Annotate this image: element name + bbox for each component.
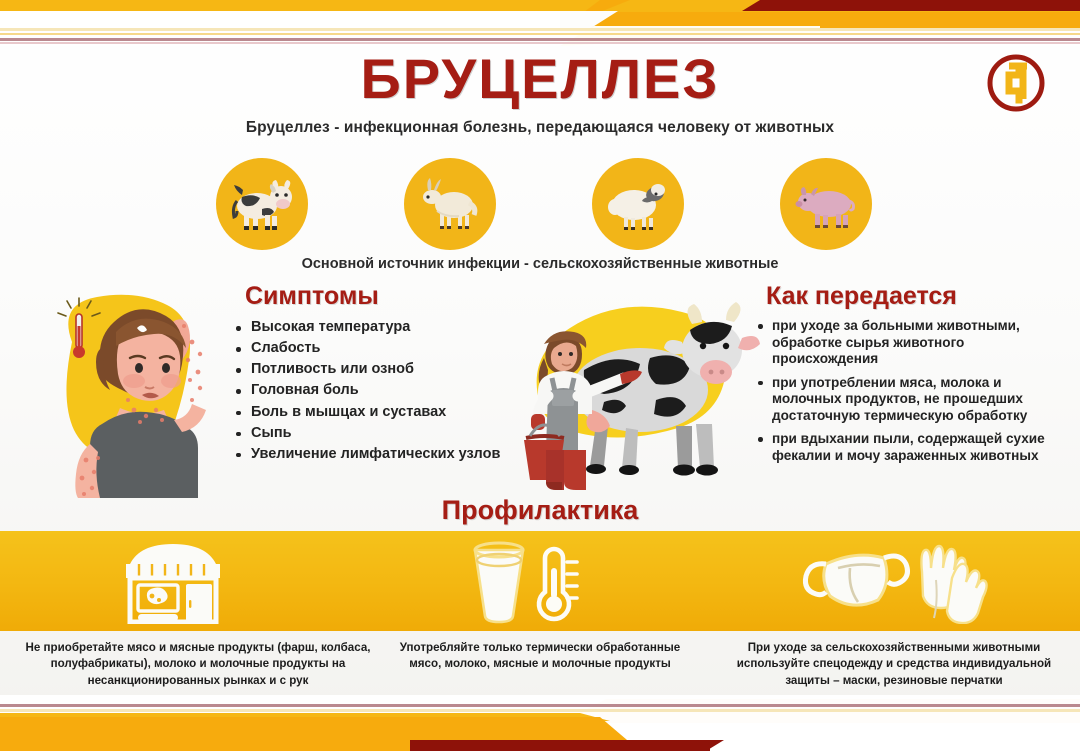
prevention-text-3: При уходе за сельскохозяйственными живот… [718, 640, 1070, 689]
goat-icon [413, 173, 487, 235]
infographic-poster: БРУЦЕЛЛЕЗ Бруцеллез - инфекционная болез… [0, 0, 1080, 751]
prevention-icon-3 [800, 531, 990, 631]
animal-item-sheep [592, 158, 688, 250]
list-item: при уходе за больными животными, обработ… [755, 318, 1070, 368]
market-shop-icon [118, 538, 228, 624]
bottom-banner [0, 695, 1080, 751]
milkmaid-and-cow-illustration [500, 292, 762, 500]
organization-logo [985, 52, 1047, 114]
list-item: Сыпь [232, 426, 522, 442]
gloves-glyph [921, 546, 986, 623]
animal-item-goat [404, 158, 500, 250]
animal-circle [216, 158, 308, 250]
pig-icon [789, 173, 863, 235]
animal-item-pig [780, 158, 876, 250]
list-item: Потливость или озноб [232, 362, 522, 378]
symptoms-heading: Симптомы [245, 282, 379, 311]
animal-source-caption: Основной источник инфекции - сельскохозя… [0, 256, 1080, 272]
logo-icon [985, 52, 1047, 114]
milk-glass-thermometer-icon [455, 538, 585, 624]
list-item: Увеличение лимфатических узлов [232, 447, 522, 463]
list-item: при вдыхании пыли, содержащей сухие фека… [755, 431, 1070, 464]
bottom-banner-hairline-cream [0, 709, 1080, 712]
sick-woman-illustration [42, 282, 222, 502]
bottom-banner-hairline-red [0, 704, 1080, 707]
list-item: Высокая температура [232, 320, 522, 336]
prevention-icon-1 [118, 531, 228, 631]
animal-sources-row [0, 158, 1080, 250]
cow-icon [224, 173, 300, 235]
list-item: Головная боль [232, 383, 522, 399]
symptoms-list: Высокая температура Слабость Потливость … [232, 320, 522, 468]
mask-glyph [805, 555, 907, 605]
prevention-text-2: Употребляйте только термически обработан… [390, 640, 690, 673]
sheep-icon [602, 173, 674, 235]
prevention-text-1: Не приобретайте мясо и мясные продукты (… [18, 640, 378, 689]
prevention-icon-2 [455, 531, 585, 631]
list-item: Боль в мышцах и суставах [232, 405, 522, 421]
prevention-heading: Профилактика [0, 495, 1080, 526]
top-banner-dark-red-stripe [760, 0, 1080, 11]
top-banner-hairline-pink [0, 42, 1080, 44]
sick-woman-icon [42, 282, 222, 502]
mask-gloves-icon [800, 538, 990, 624]
top-banner-yellow-stripe [0, 0, 640, 11]
top-banner [0, 0, 1080, 46]
top-banner-hairline-gold [0, 33, 1080, 35]
top-banner-hairline-cream [0, 28, 1080, 31]
transmission-heading: Как передается [766, 282, 957, 311]
bottom-banner-dark-red-stripe [410, 740, 710, 751]
page-subtitle: Бруцеллез - инфекционная болезнь, переда… [0, 119, 1080, 137]
animal-circle [404, 158, 496, 250]
milkmaid-cow-icon [500, 292, 762, 500]
list-item: при употреблении мяса, молока и молочных… [755, 375, 1070, 425]
prevention-icons-row [0, 531, 1080, 631]
transmission-list: при уходе за больными животными, обработ… [755, 318, 1070, 472]
animal-circle [780, 158, 872, 250]
thermometer-glyph [539, 549, 577, 619]
list-item: Слабость [232, 341, 522, 357]
animal-item-cow [216, 158, 312, 250]
bottom-banner-dark-red-wedge [700, 740, 724, 751]
animal-circle [592, 158, 684, 250]
page-title: БРУЦЕЛЛЕЗ [0, 46, 1080, 111]
top-banner-hairline-red [0, 38, 1080, 41]
